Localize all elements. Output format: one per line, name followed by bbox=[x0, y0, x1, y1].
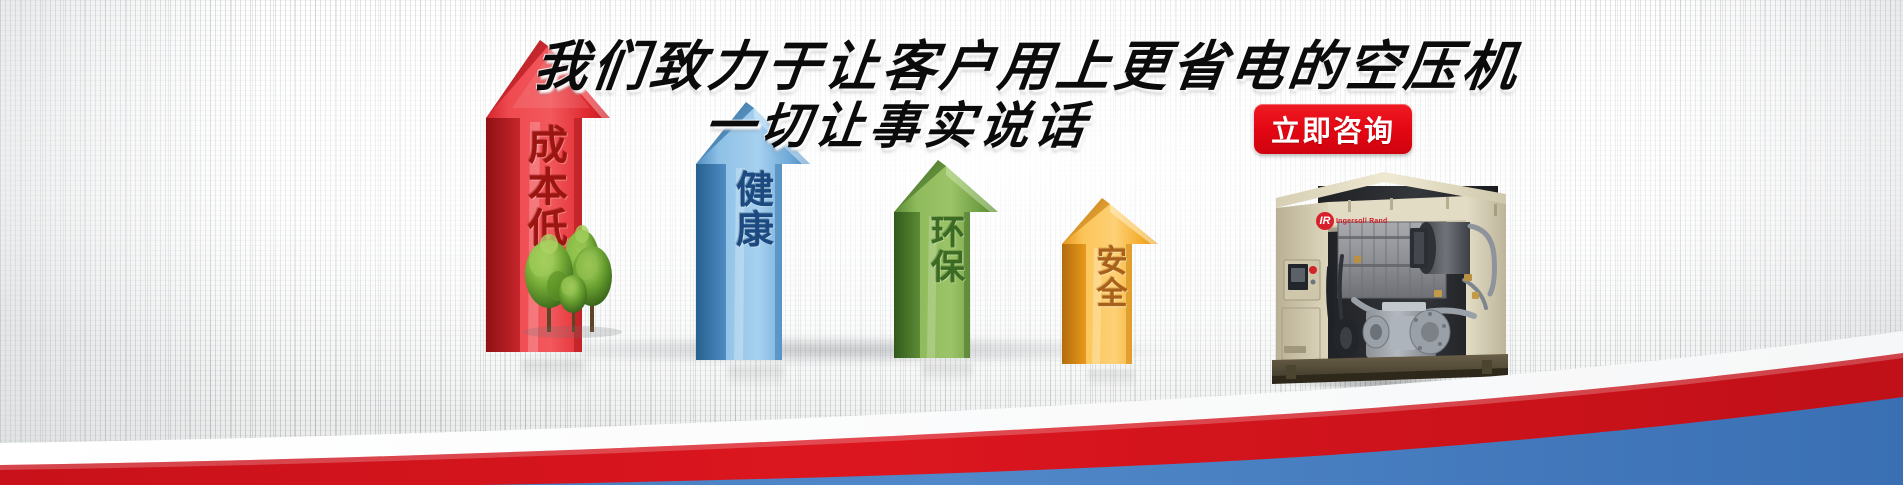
ingersoll-rand-logo-text: Ingersoll Rand bbox=[1336, 218, 1387, 225]
consult-now-button[interactable]: 立即咨询 bbox=[1254, 104, 1412, 154]
promo-banner: 成 本 低 bbox=[0, 0, 1903, 485]
headline-line-2: 一切让事实说话 bbox=[701, 86, 1095, 158]
ingersoll-rand-logo-mark: IR bbox=[1316, 212, 1334, 230]
consult-now-label: 立即咨询 bbox=[1271, 108, 1395, 150]
bottom-wave-decoration bbox=[0, 295, 1903, 485]
